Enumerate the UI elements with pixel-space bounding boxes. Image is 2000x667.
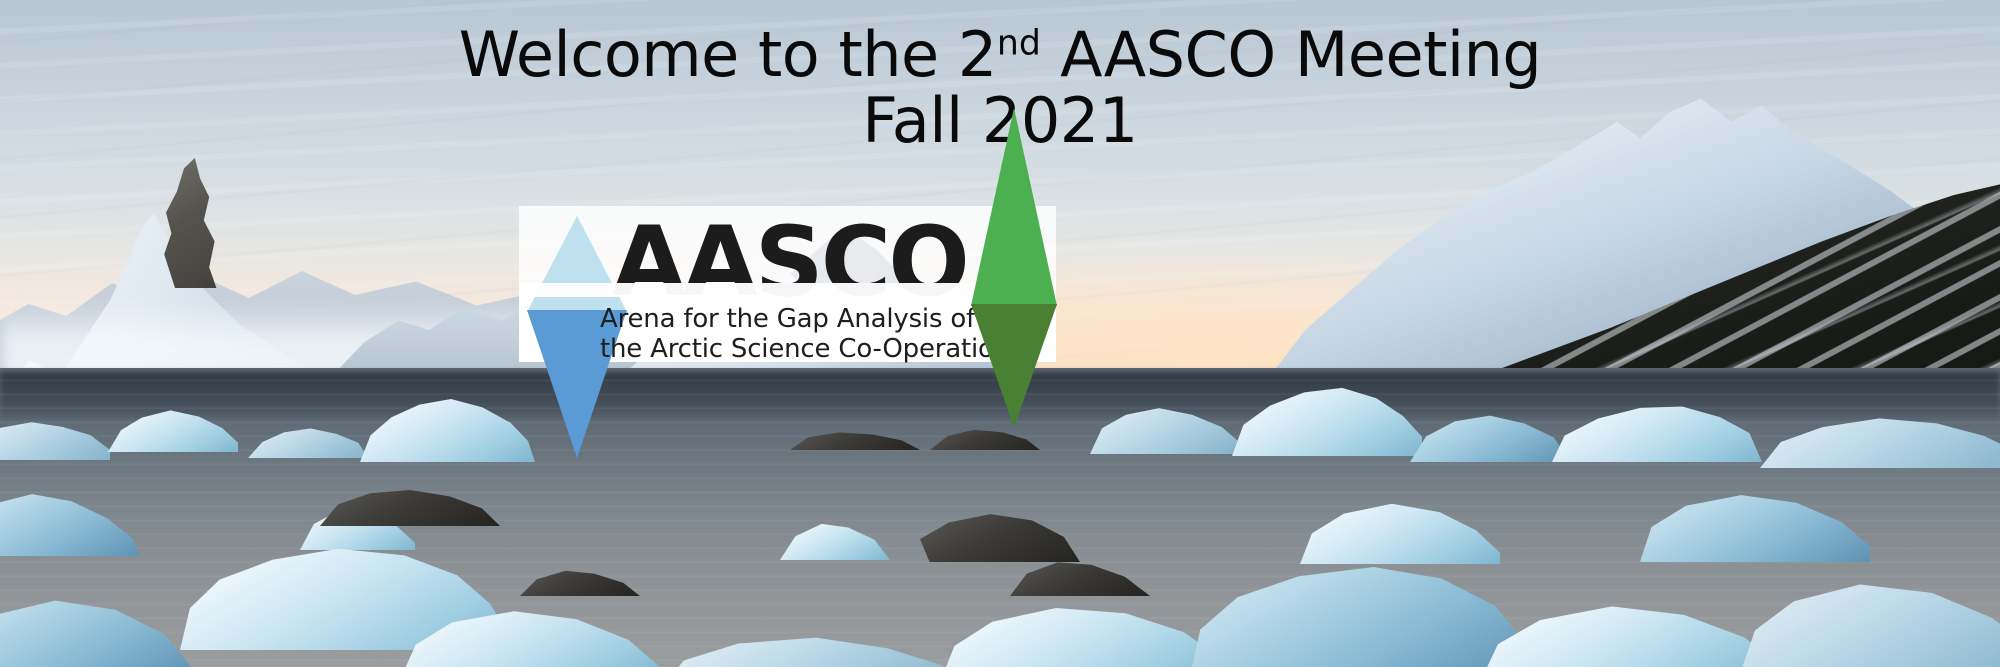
title-line-2: Fall 2021 [0,88,2000,154]
logo-tagline: Arena for the Gap Analysis of the Arctic… [600,304,1020,365]
logo-tagline-line-2: the Arctic Science Co-Operation [600,334,1020,364]
title-text-before: Welcome to the 2 [459,18,997,91]
welcome-banner: Welcome to the 2nd AASCO Meeting Fall 20… [0,0,2000,667]
title-line-1: Welcome to the 2nd AASCO Meeting [0,22,2000,88]
logo-tagline-line-1: Arena for the Gap Analysis of [600,304,1020,334]
page-title: Welcome to the 2nd AASCO Meeting Fall 20… [0,22,2000,153]
title-ordinal-suffix: nd [997,23,1041,63]
title-text-after: AASCO Meeting [1041,18,1541,91]
